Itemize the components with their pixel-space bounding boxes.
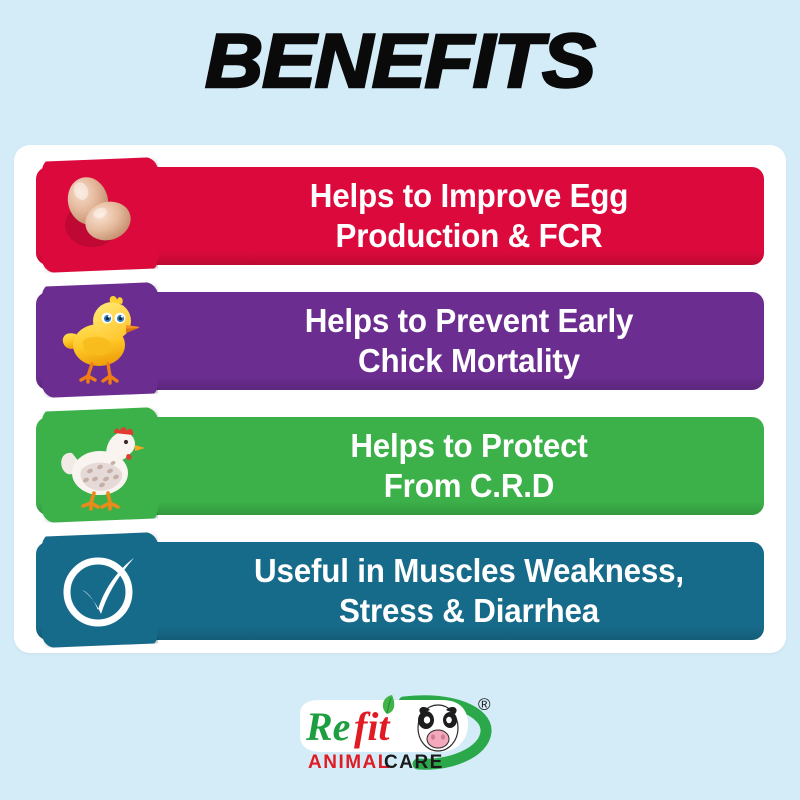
benefit-row-egg-production[interactable]: Helps to Improve Egg Production & FCR: [14, 157, 786, 273]
benefit-row-chick-mortality[interactable]: Helps to Prevent Early Chick Mortality: [14, 282, 786, 398]
benefit-text-line2: From C.R.D: [384, 467, 555, 506]
title-container: BENEFITS: [0, 24, 800, 100]
logo-tagline-care: CARE: [384, 752, 444, 773]
benefit-icon-tab: [42, 532, 158, 648]
page-title: BENEFITS: [205, 24, 595, 100]
benefit-text-line2: Chick Mortality: [358, 342, 580, 381]
benefit-text: Helps to Prevent Early Chick Mortality: [189, 292, 750, 390]
benefit-text: Useful in Muscles Weakness, Stress & Dia…: [189, 542, 750, 640]
benefits-card: Helps to Improve Egg Production & FCR: [14, 145, 786, 653]
brand-logo: Re fit ® ANIMAL CARE: [292, 692, 512, 778]
benefit-icon-tab: [42, 157, 158, 273]
benefit-row-muscles-stress-diarrhea[interactable]: Useful in Muscles Weakness, Stress & Dia…: [14, 532, 786, 648]
cow-icon: [418, 705, 458, 751]
benefit-text-line2: Stress & Diarrhea: [339, 592, 599, 631]
benefit-text-line1: Helps to Protect: [350, 427, 587, 466]
benefit-icon-tab: [42, 282, 158, 398]
logo-brand-prefix: Re: [305, 704, 350, 749]
benefit-icon-tab: [42, 407, 158, 523]
hen-icon: [42, 407, 158, 523]
benefit-text-line1: Useful in Muscles Weakness,: [254, 552, 684, 591]
benefit-text-line1: Helps to Prevent Early: [305, 302, 634, 341]
benefit-row-crd-protection[interactable]: Helps to Protect From C.R.D: [14, 407, 786, 523]
benefit-text: Helps to Protect From C.R.D: [189, 417, 750, 515]
registered-mark: ®: [478, 695, 491, 714]
benefits-poster: BENEFITS: [0, 0, 800, 800]
logo-tagline-animal: ANIMAL: [308, 752, 391, 773]
benefit-text-line2: Production & FCR: [336, 217, 603, 256]
benefit-text-line1: Helps to Improve Egg: [310, 177, 628, 216]
check-circle-icon: [42, 532, 158, 648]
chick-icon: [42, 282, 158, 398]
eggs-icon: [42, 157, 158, 273]
benefit-text: Helps to Improve Egg Production & FCR: [189, 167, 750, 265]
